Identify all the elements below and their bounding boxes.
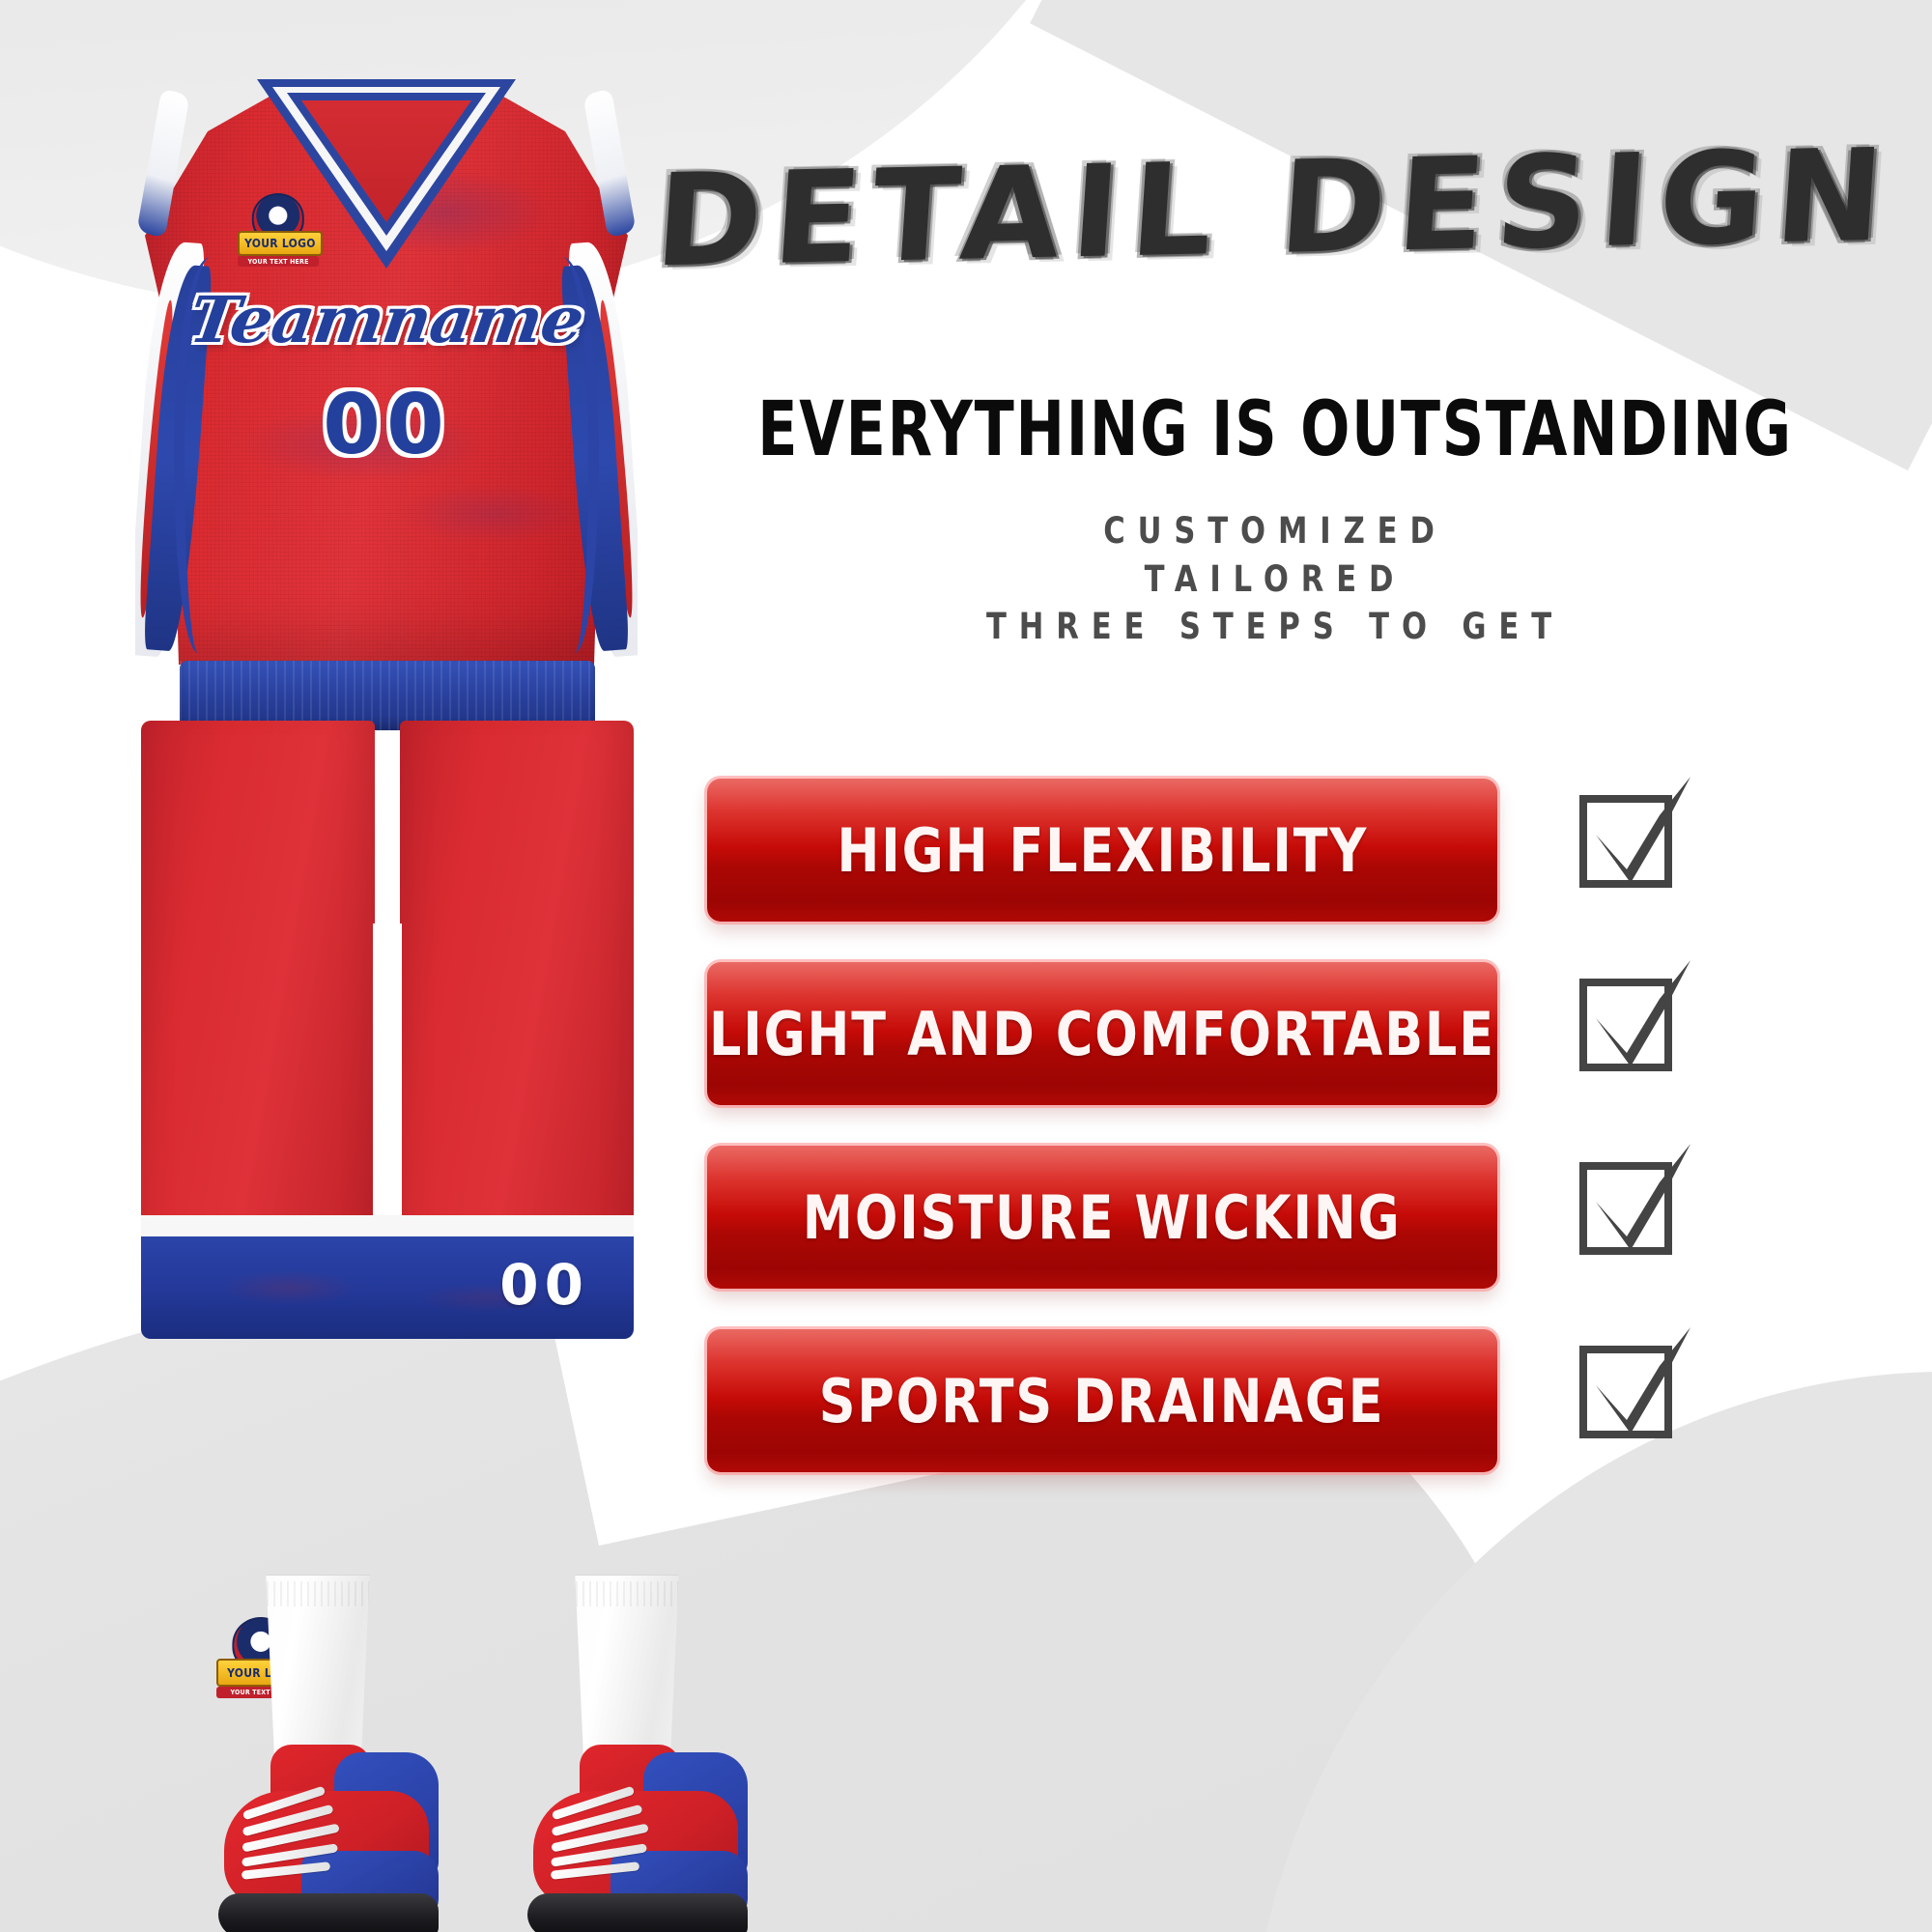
feature-label: MOISTURE WICKING [803, 1182, 1402, 1253]
foot-left [213, 1575, 464, 1932]
feature-label: SPORTS DRAINAGE [819, 1366, 1385, 1436]
feature-bar-sports-drainage[interactable]: SPORTS DRAINAGE [707, 1329, 1497, 1472]
feature-bar-moisture-wicking[interactable]: MOISTURE WICKING [707, 1146, 1497, 1289]
feature-list: HIGH FLEXIBILITY LIGHT AND COMFORTABLE [638, 758, 1922, 1492]
subtitle-line-2: TAILORED [689, 555, 1861, 604]
jersey-team-name: Teamname [99, 282, 672, 357]
subtitle-group: CUSTOMIZED TAILORED THREE STEPS TO GET [638, 507, 1913, 651]
logo-main-text: YOUR LOGO [244, 237, 316, 250]
shorts-hem-white-stripe [141, 1215, 634, 1236]
check-box-icon [1577, 976, 1692, 1092]
jersey-number: 00 [116, 377, 657, 473]
product-detail-banner: YOUR LOGO YOUR TEXT HERE Teamname 00 00 [0, 0, 1932, 1932]
content-column: DETAIL DESIGN EVERYTHING IS OUTSTANDING … [638, 0, 1932, 1932]
feature-label: LIGHT AND COMFORTABLE [709, 999, 1495, 1069]
shorts-number: 00 [499, 1252, 589, 1318]
subtitle-line-3: THREE STEPS TO GET [689, 603, 1861, 651]
shoe-sole [218, 1893, 439, 1932]
feature-row: LIGHT AND COMFORTABLE [638, 942, 1922, 1125]
logo-sub-banner: YOUR TEXT HERE [238, 256, 319, 267]
shorts-hem: 00 [141, 1194, 634, 1339]
feature-row: SPORTS DRAINAGE [638, 1309, 1922, 1492]
feature-row: HIGH FLEXIBILITY [638, 758, 1922, 942]
uniform-illustration: YOUR LOGO YOUR TEXT HERE Teamname 00 00 [116, 58, 657, 1314]
feature-bar-light-and-comfortable[interactable]: LIGHT AND COMFORTABLE [707, 962, 1497, 1105]
logo-sub-text: YOUR TEXT HERE [247, 258, 308, 266]
feature-label: HIGH FLEXIBILITY [837, 815, 1368, 886]
check-box-icon [1577, 1159, 1692, 1275]
logo-banner: YOUR LOGO [238, 231, 323, 257]
jersey-graphic: YOUR LOGO YOUR TEXT HERE Teamname 00 [116, 58, 657, 696]
subtitle-line-1: CUSTOMIZED [689, 507, 1861, 555]
check-box-icon [1577, 792, 1692, 908]
feature-row: MOISTURE WICKING [638, 1125, 1922, 1309]
shorts-graphic: 00 YOUR LOGO YOUR TEXT HERE [141, 721, 634, 1339]
shoe-laces [241, 1797, 367, 1880]
shoe-left [213, 1745, 454, 1932]
jersey-logo-patch: YOUR LOGO YOUR TEXT HERE [238, 193, 319, 267]
check-box-icon [1577, 1343, 1692, 1459]
headline: EVERYTHING IS OUTSTANDING [726, 386, 1823, 473]
feature-bar-high-flexibility[interactable]: HIGH FLEXIBILITY [707, 779, 1497, 922]
page-title: DETAIL DESIGN [633, 131, 1918, 286]
